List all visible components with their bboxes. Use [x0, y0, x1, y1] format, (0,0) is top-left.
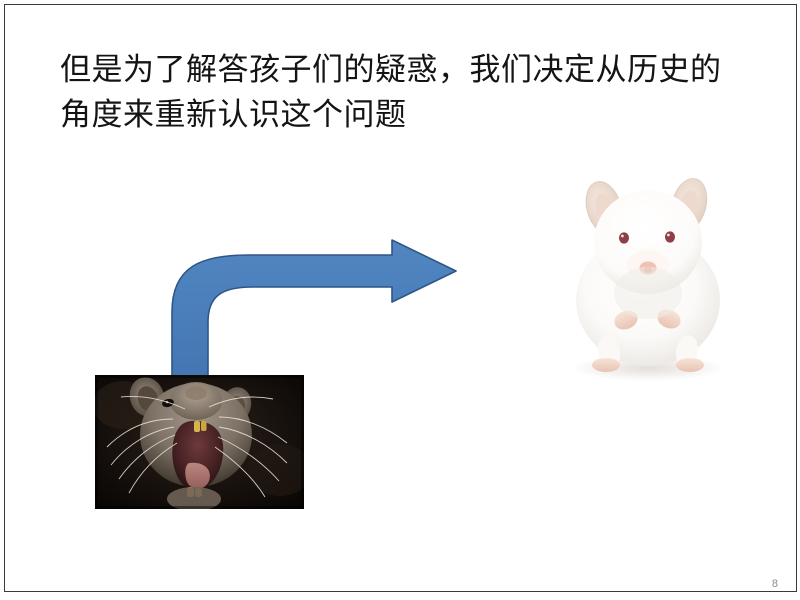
mouse-left-foot — [592, 358, 620, 372]
rat-upper-incisor-left — [194, 421, 200, 432]
slide-title-line-2: 角度来重新认识这个问题 — [60, 92, 760, 137]
mouse-right-eye-glint — [667, 234, 670, 237]
mouse-left-eye — [619, 232, 629, 243]
slide-title: 但是为了解答孩子们的疑惑，我们决定从历史的 角度来重新认识这个问题 — [60, 47, 760, 137]
wild-rat-photo — [95, 375, 304, 509]
slide-border-top — [4, 4, 797, 5]
slide-border-left — [4, 4, 5, 592]
mouse-left-eye-glint — [621, 235, 624, 238]
mouse-right-eye — [665, 231, 675, 242]
curved-right-arrow — [160, 230, 560, 390]
mouse-chest-shading — [614, 267, 682, 319]
rat-upper-incisor-right — [201, 421, 207, 431]
arrow-shape — [172, 240, 456, 378]
page-number: 8 — [772, 578, 778, 590]
white-lab-mouse-photo — [548, 160, 748, 385]
slide-border-bottom — [4, 591, 797, 592]
slide-border-right — [796, 4, 797, 592]
rat-nose — [185, 386, 207, 400]
mouse-right-foot — [676, 358, 704, 372]
slide-title-line-1: 但是为了解答孩子们的疑惑，我们决定从历史的 — [60, 47, 760, 92]
presentation-slide: 但是为了解答孩子们的疑惑，我们决定从历史的 角度来重新认识这个问题 — [0, 0, 800, 600]
